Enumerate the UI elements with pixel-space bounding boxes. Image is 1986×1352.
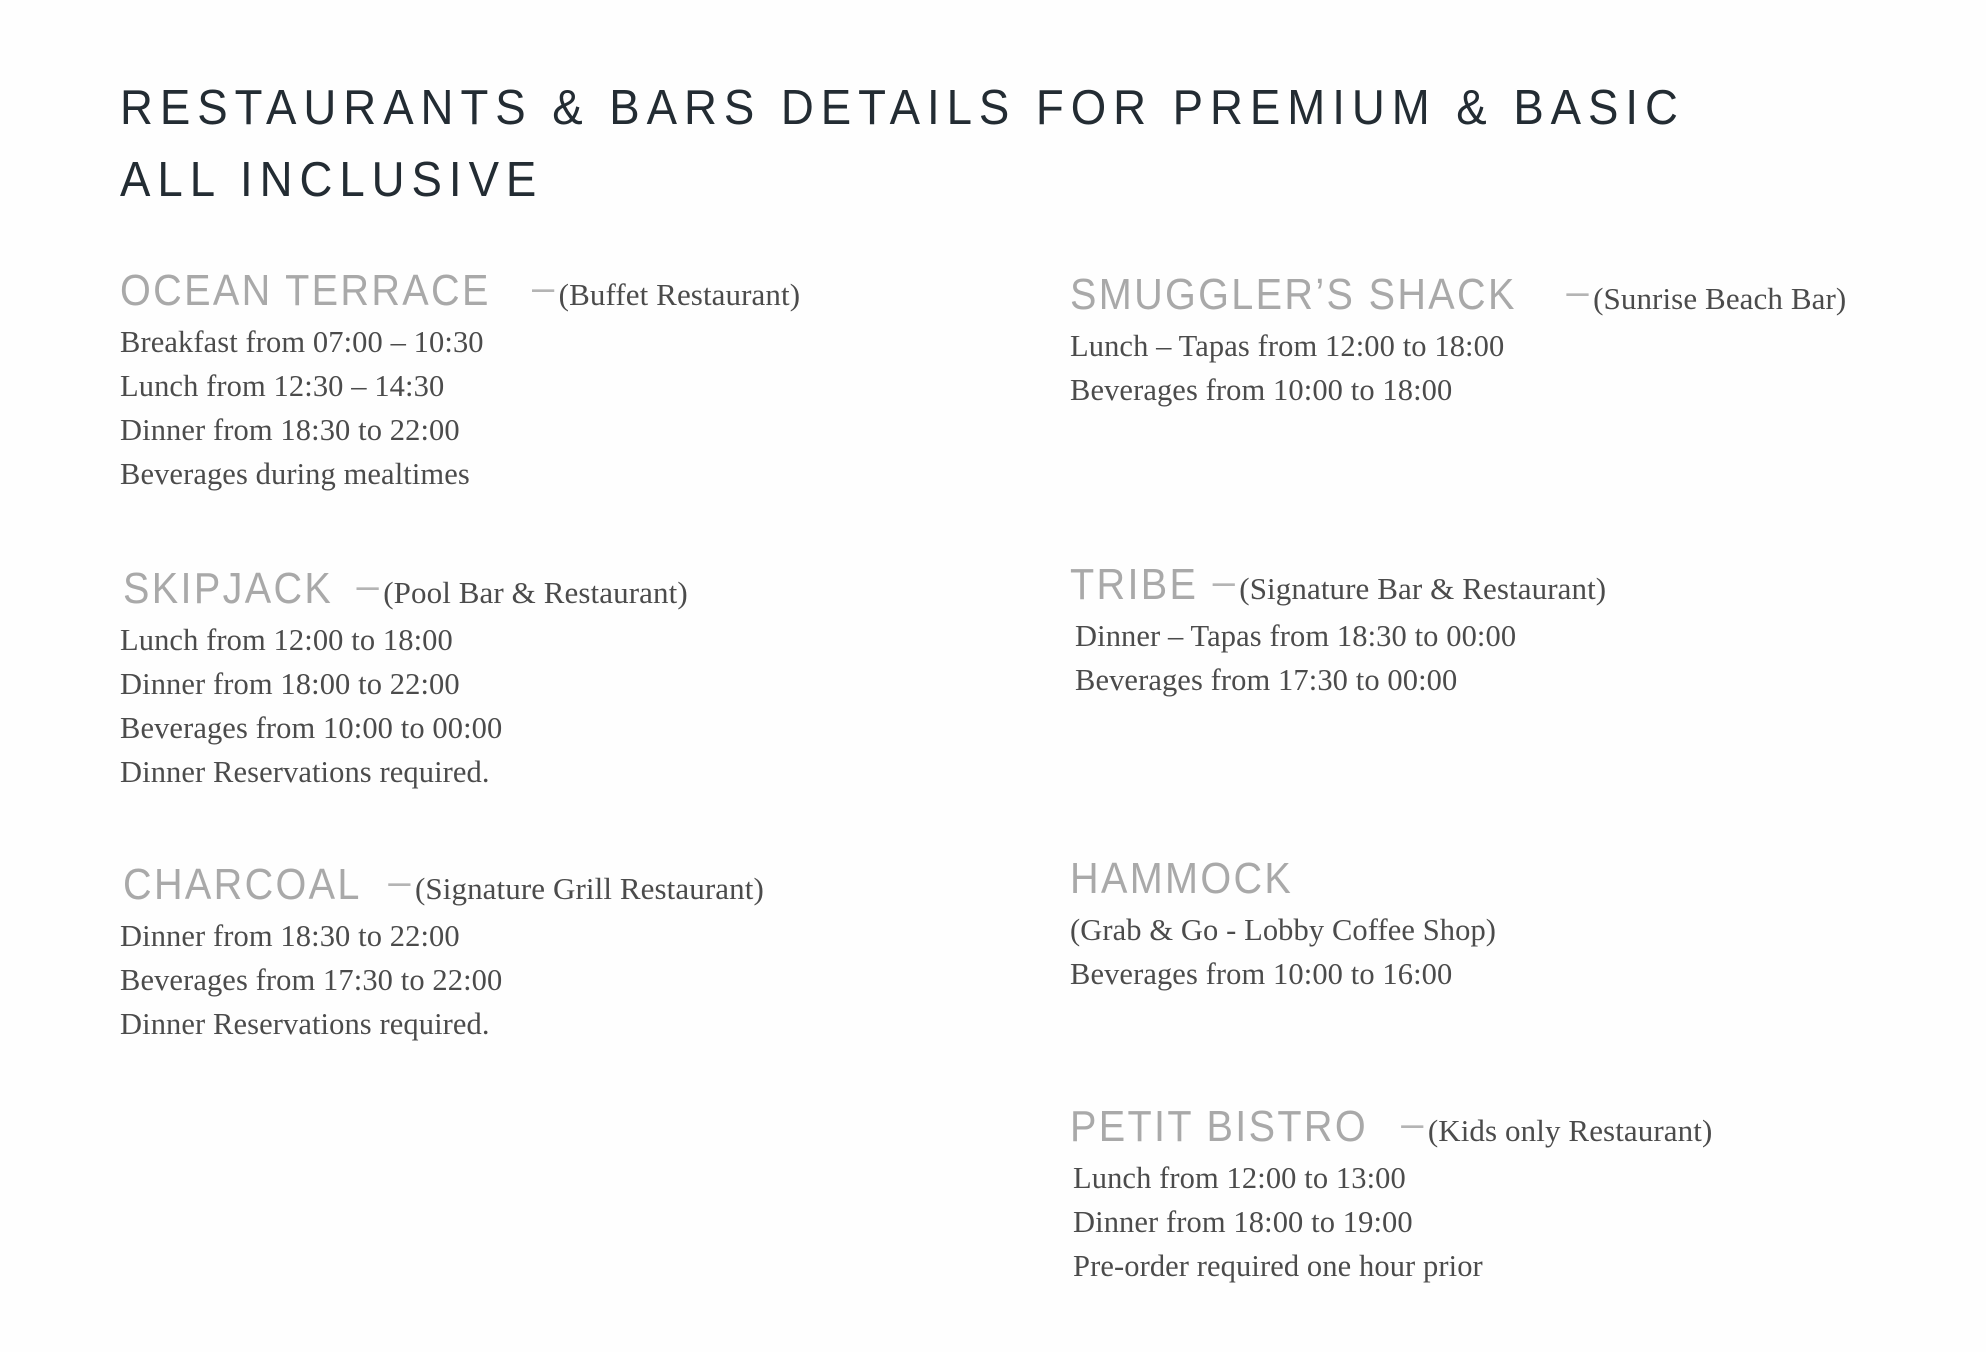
section-heading-smugglers-shack: SMUGGLER’S SHACK– (Sunrise Beach Bar) — [1070, 272, 1880, 318]
restaurant-name-smugglers-shack: SMUGGLER’S SHACK — [1070, 272, 1517, 318]
hours-line: Dinner from 18:30 to 22:00 — [120, 914, 1060, 958]
hours-line: Pre-order required one hour prior — [1073, 1244, 1986, 1288]
document-page: RESTAURANTS & BARS DETAILS FOR PREMIUM &… — [0, 0, 1986, 1352]
hours-line: Beverages from 10:00 to 16:00 — [1070, 952, 1986, 996]
hours-list-ocean-terrace: Breakfast from 07:00 – 10:30 Lunch from … — [120, 320, 1060, 496]
restaurant-subtitle-skipjack: (Pool Bar & Restaurant) — [383, 575, 688, 610]
section-heading-petit-bistro: PETIT BISTRO– (Kids only Restaurant) — [1070, 1104, 1986, 1150]
section-smugglers-shack: SMUGGLER’S SHACK– (Sunrise Beach Bar) Lu… — [1070, 272, 1880, 412]
hours-line: Dinner from 18:00 to 22:00 — [120, 662, 1060, 706]
restaurant-subtitle-ocean-terrace: (Buffet Restaurant) — [559, 277, 801, 312]
restaurant-subtitle-tribe: (Signature Bar & Restaurant) — [1239, 571, 1606, 606]
hours-line: Dinner – Tapas from 18:30 to 00:00 — [1075, 614, 1986, 658]
restaurant-subtitle-petit-bistro: (Kids only Restaurant) — [1428, 1113, 1713, 1148]
hours-list-petit-bistro: Lunch from 12:00 to 13:00 Dinner from 18… — [1070, 1156, 1986, 1288]
restaurant-subtitle-charcoal: (Signature Grill Restaurant) — [415, 871, 764, 906]
hours-line: (Grab & Go - Lobby Coffee Shop) — [1070, 908, 1986, 952]
hours-list-tribe: Dinner – Tapas from 18:30 to 00:00 Bever… — [1070, 614, 1986, 702]
hours-line: Dinner Reservations required. — [120, 1002, 1060, 1046]
name-dash-icon: – — [357, 566, 379, 608]
name-dash-icon: – — [1213, 562, 1235, 604]
hours-line: Lunch – Tapas from 12:00 to 18:00 — [1070, 324, 1880, 368]
section-petit-bistro: PETIT BISTRO– (Kids only Restaurant) Lun… — [1070, 1104, 1986, 1288]
name-dash-icon: – — [1401, 1104, 1423, 1146]
hours-line: Dinner from 18:30 to 22:00 — [120, 408, 1060, 452]
hours-line: Beverages from 10:00 to 18:00 — [1070, 368, 1880, 412]
section-heading-skipjack: SKIPJACK– (Pool Bar & Restaurant) — [120, 566, 1060, 612]
hours-line: Lunch from 12:00 to 18:00 — [120, 618, 1060, 662]
hours-line: Beverages from 17:30 to 22:00 — [120, 958, 1060, 1002]
restaurant-name-charcoal: CHARCOAL — [123, 862, 362, 908]
hours-line: Dinner Reservations required. — [120, 750, 1060, 794]
restaurant-name-hammock: HAMMOCK — [1070, 856, 1293, 902]
section-hammock: HAMMOCK (Grab & Go - Lobby Coffee Shop) … — [1070, 856, 1986, 996]
hours-line: Lunch from 12:30 – 14:30 — [120, 364, 1060, 408]
restaurant-subtitle-smugglers-shack: (Sunrise Beach Bar) — [1593, 281, 1846, 316]
hours-list-hammock: (Grab & Go - Lobby Coffee Shop) Beverage… — [1070, 908, 1986, 996]
section-tribe: TRIBE– (Signature Bar & Restaurant) Dinn… — [1070, 562, 1986, 702]
restaurant-name-ocean-terrace: OCEAN TERRACE — [120, 268, 491, 314]
hours-list-charcoal: Dinner from 18:30 to 22:00 Beverages fro… — [120, 914, 1060, 1046]
hours-line: Beverages from 10:00 to 00:00 — [120, 706, 1060, 750]
section-charcoal: CHARCOAL– (Signature Grill Restaurant) D… — [120, 862, 1060, 1046]
section-heading-tribe: TRIBE– (Signature Bar & Restaurant) — [1070, 562, 1986, 608]
restaurant-name-petit-bistro: PETIT BISTRO — [1070, 1104, 1368, 1150]
section-ocean-terrace: OCEAN TERRACE– (Buffet Restaurant) Break… — [120, 268, 1060, 496]
section-heading-charcoal: CHARCOAL– (Signature Grill Restaurant) — [120, 862, 1060, 908]
hours-line: Dinner from 18:00 to 19:00 — [1073, 1200, 1986, 1244]
hours-list-smugglers-shack: Lunch – Tapas from 12:00 to 18:00 Bevera… — [1070, 324, 1880, 412]
name-dash-icon: – — [388, 862, 410, 904]
right-column: SMUGGLER’S SHACK– (Sunrise Beach Bar) Lu… — [940, 0, 1880, 1352]
section-skipjack: SKIPJACK– (Pool Bar & Restaurant) Lunch … — [120, 566, 1060, 794]
hours-line: Lunch from 12:00 to 13:00 — [1073, 1156, 1986, 1200]
section-heading-hammock: HAMMOCK — [1070, 856, 1986, 902]
name-dash-icon: – — [532, 268, 554, 310]
hours-line: Beverages during mealtimes — [120, 452, 1060, 496]
name-dash-icon: – — [1566, 272, 1588, 314]
hours-line: Breakfast from 07:00 – 10:30 — [120, 320, 1060, 364]
left-column: OCEAN TERRACE– (Buffet Restaurant) Break… — [0, 0, 940, 1352]
hours-list-skipjack: Lunch from 12:00 to 18:00 Dinner from 18… — [120, 618, 1060, 794]
hours-line: Beverages from 17:30 to 00:00 — [1075, 658, 1986, 702]
section-heading-ocean-terrace: OCEAN TERRACE– (Buffet Restaurant) — [120, 268, 1060, 314]
restaurant-name-skipjack: SKIPJACK — [123, 566, 333, 612]
restaurant-name-tribe: TRIBE — [1070, 562, 1198, 608]
